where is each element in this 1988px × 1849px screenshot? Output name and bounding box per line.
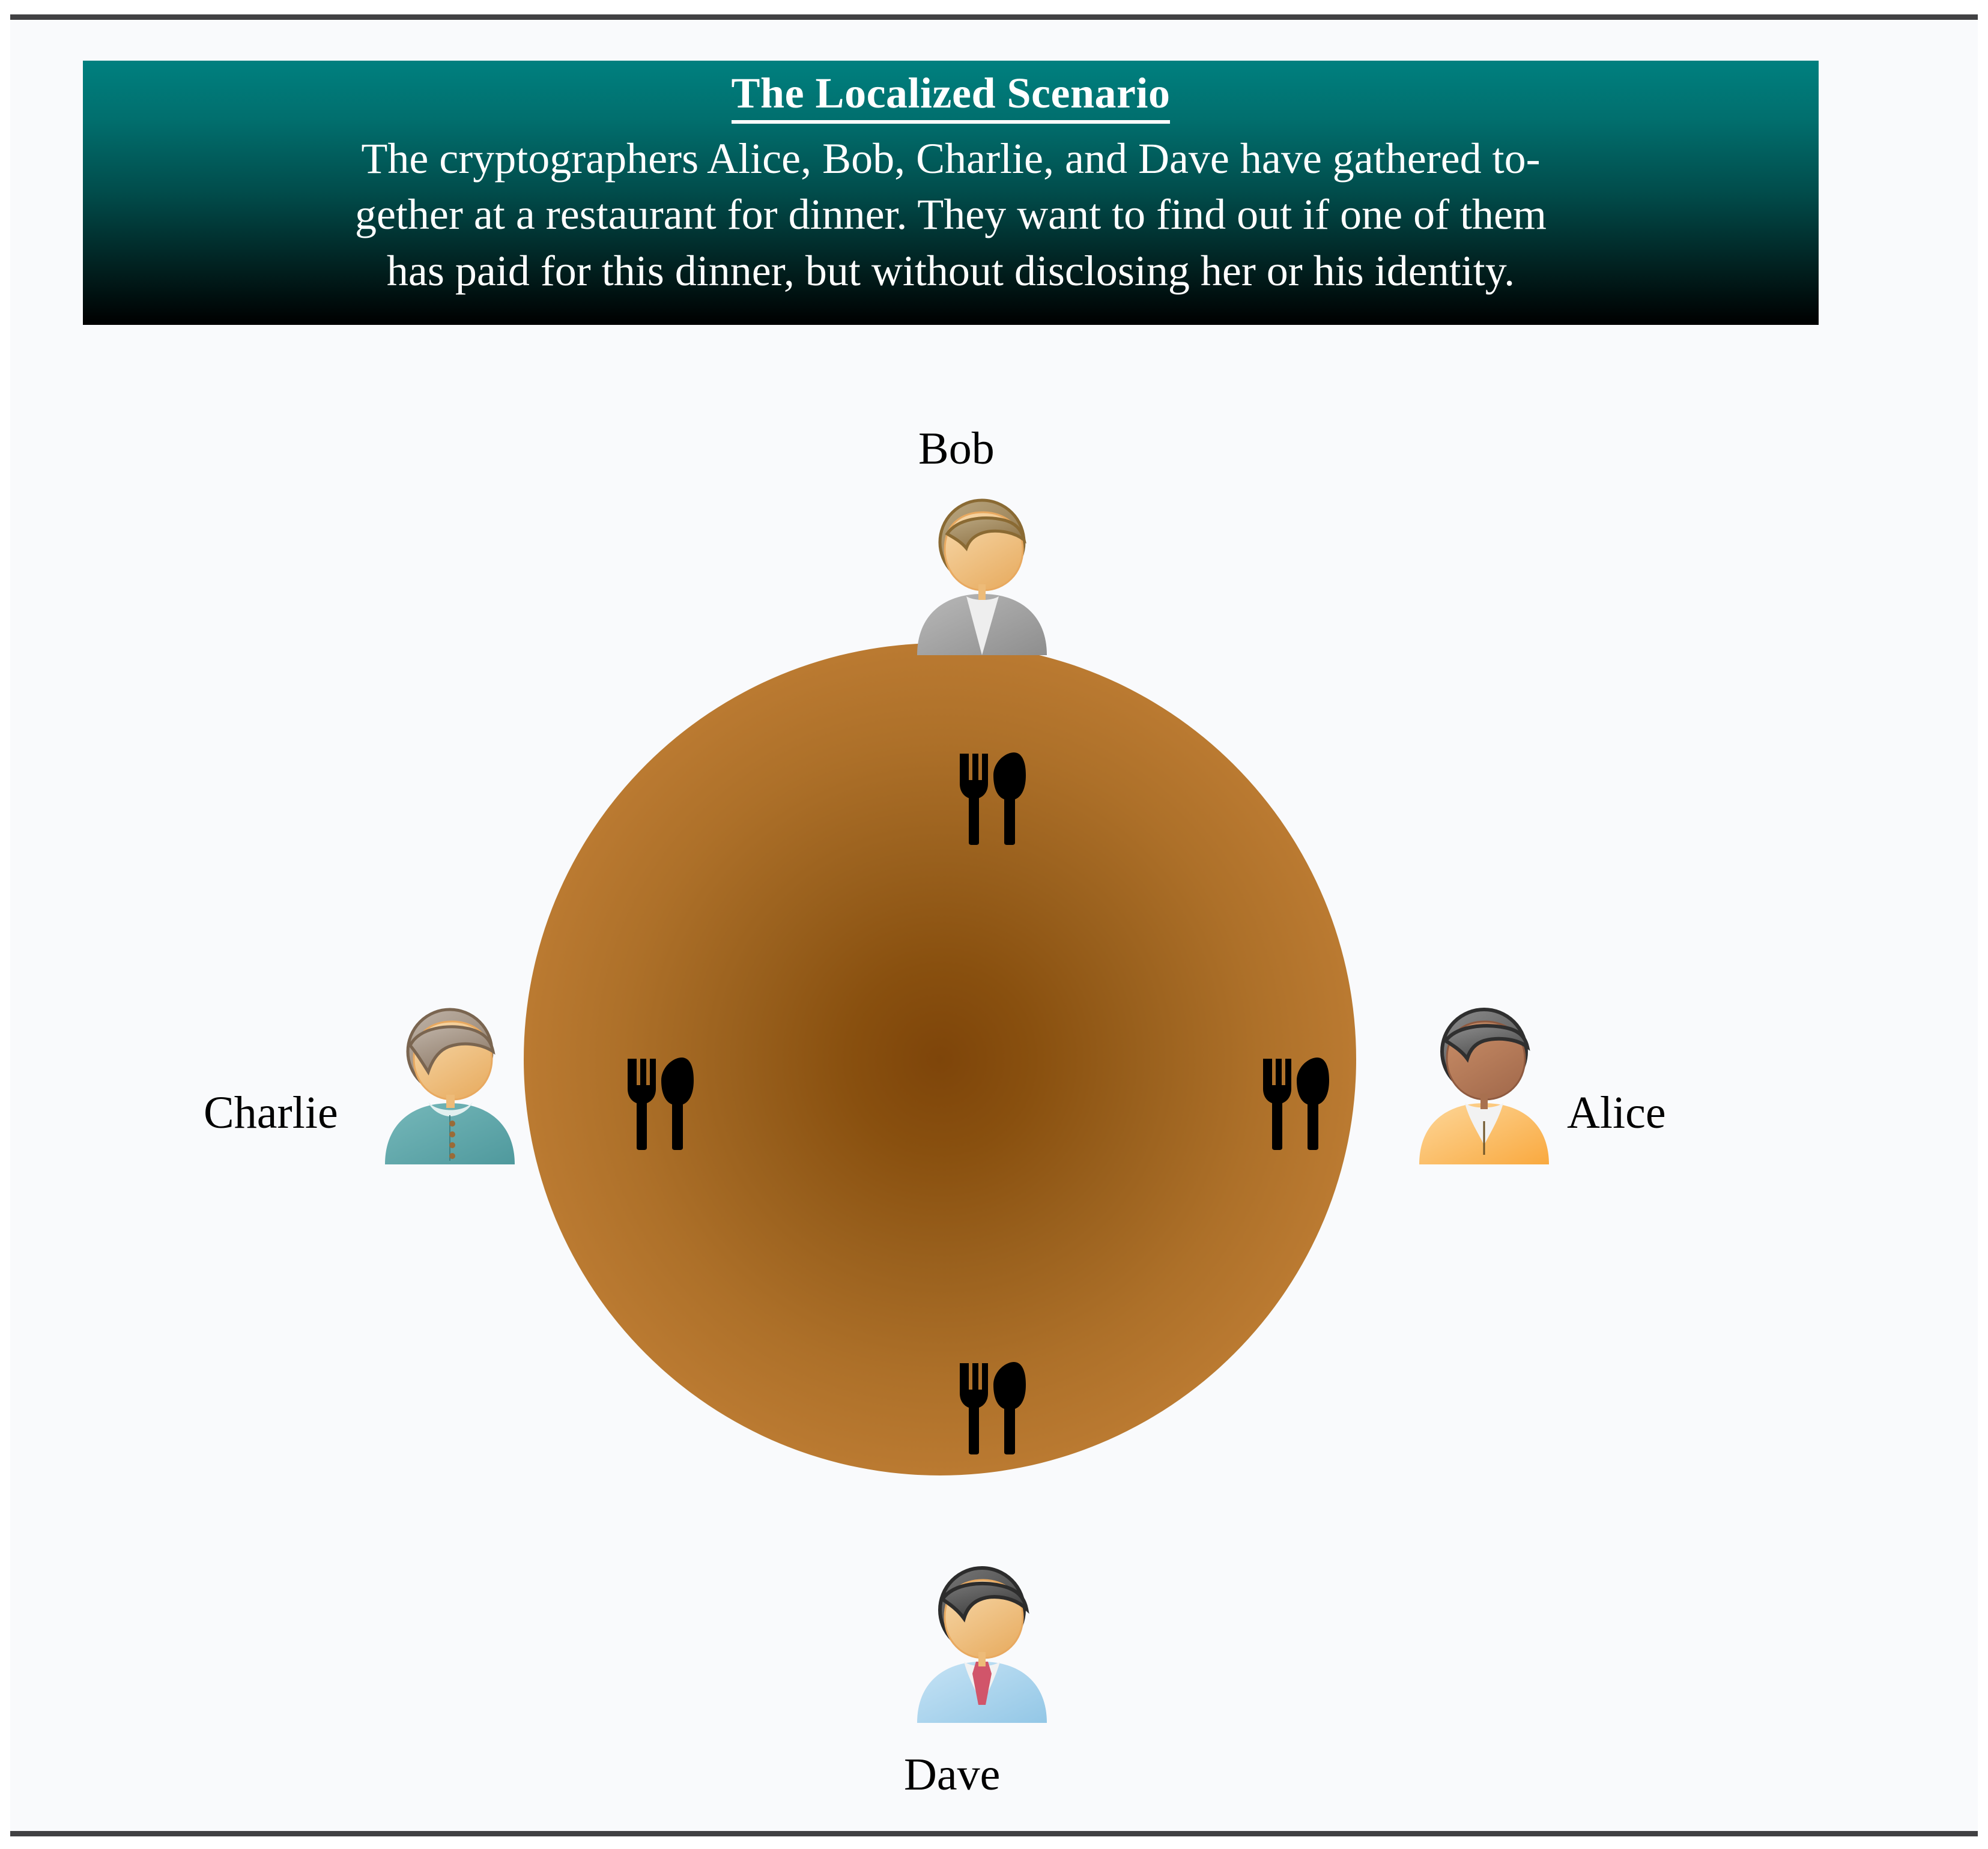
person-label-dave: Dave <box>904 1752 1000 1797</box>
avatar <box>911 1562 1053 1723</box>
fork-and-knife-icon <box>956 751 1031 845</box>
person-label-bob: Bob <box>918 426 995 471</box>
top-rule <box>10 14 1978 20</box>
avatar <box>379 1003 521 1164</box>
dinner-scene: Bob Alice Dave Charlie <box>10 20 1978 1831</box>
fork-and-knife-icon <box>1259 1056 1334 1150</box>
fork-and-knife-icon <box>624 1056 699 1150</box>
fork-and-knife-icon <box>956 1361 1031 1454</box>
avatar <box>1413 1003 1555 1164</box>
person-label-charlie: Charlie <box>204 1090 338 1136</box>
page-root: The Localized Scenario The cryptographer… <box>0 0 1988 1849</box>
person-label-alice: Alice <box>1567 1090 1666 1136</box>
avatar <box>911 494 1053 655</box>
slide-canvas: The Localized Scenario The cryptographer… <box>10 20 1978 1831</box>
bottom-rule <box>10 1831 1978 1836</box>
